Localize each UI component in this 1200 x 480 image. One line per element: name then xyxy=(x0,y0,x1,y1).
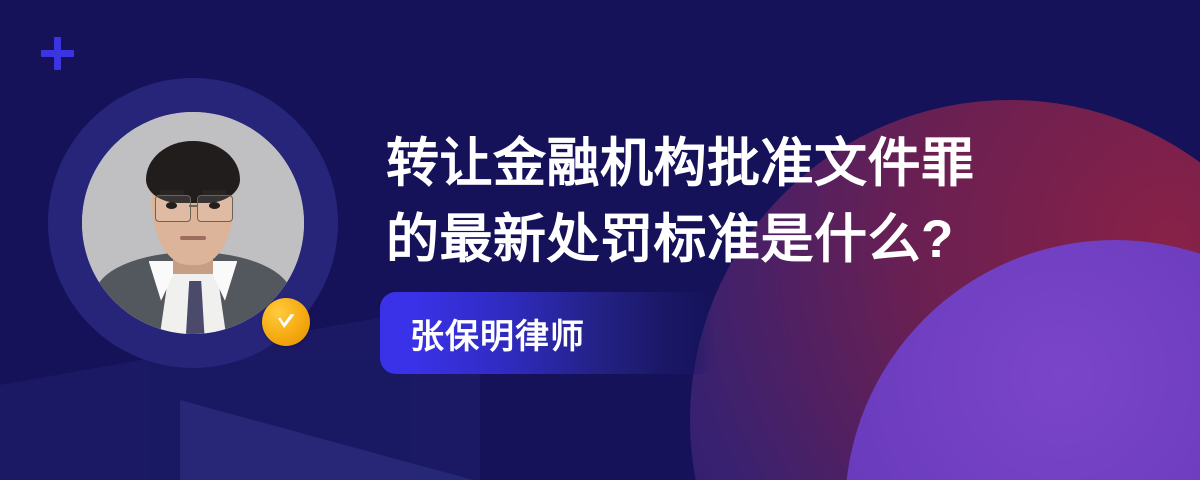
page-title: 转让金融机构批准文件罪 的最新处罚标准是什么? xyxy=(386,126,1046,278)
portrait-illustration xyxy=(82,112,304,334)
plus-icon xyxy=(41,37,74,70)
avatar[interactable] xyxy=(48,78,338,368)
avatar-photo xyxy=(82,112,304,334)
lawyer-name-badge[interactable]: 张保明律师 xyxy=(380,292,715,374)
portrait-glasses-bridge xyxy=(189,205,198,207)
portrait-eye-right xyxy=(209,202,220,209)
promo-banner: 转让金融机构批准文件罪 的最新处罚标准是什么? 张保明律师 xyxy=(0,0,1200,480)
portrait-eye-left xyxy=(166,202,177,209)
portrait-mouth xyxy=(180,236,207,240)
plus-icon-bar-vertical xyxy=(54,37,61,70)
verified-check-icon xyxy=(262,298,310,346)
headline-line-1: 转让金融机构批准文件罪 xyxy=(386,126,1046,202)
lawyer-name-label: 张保明律师 xyxy=(380,309,585,358)
headline-line-2: 的最新处罚标准是什么? xyxy=(386,202,1046,278)
